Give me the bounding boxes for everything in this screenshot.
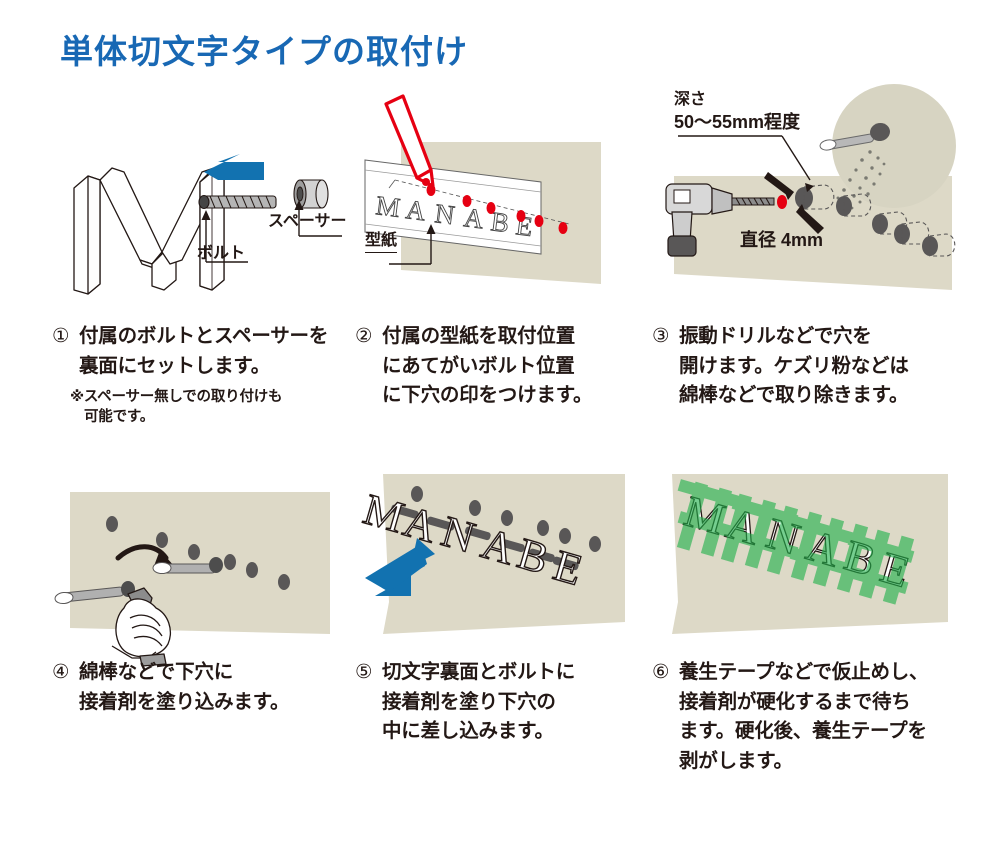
step-2-line-3: に下穴の印をつけます。 [382, 384, 592, 406]
step-6-line-2: 接着剤が硬化するまで待ち [679, 691, 911, 713]
bolt-part [199, 196, 276, 209]
step-1-number: ① [52, 322, 69, 352]
step-6-line-3: ます。硬化後、養生テープを [679, 720, 927, 742]
step-3-caption: ③ 振動ドリルなどで穴を 開けます。ケズリ粉などは 綿棒などで取り除きます。 [652, 322, 952, 411]
step-6-number: ⑥ [652, 658, 669, 688]
step-5-caption: ⑤ 切文字裏面とボルトに 接着剤を塗り下穴の 中に差し込みます。 [355, 658, 655, 747]
instruction-sheet: 単体切文字タイプの取付け [0, 0, 1000, 866]
masking-tape-illustration: M A N A B E [652, 462, 952, 652]
svg-text:M: M [374, 190, 401, 223]
step-1-note-line-2: 可能です。 [84, 408, 154, 428]
step-4-line-1: 綿棒などで下穴に [79, 661, 233, 683]
letter-m-3d [74, 168, 224, 294]
spacer-label: スペーサー [268, 212, 347, 232]
blue-arrow-left [204, 154, 264, 180]
step-6-caption: ⑥ 養生テープなどで仮止めし、 接着剤が硬化するまで待ち ます。硬化後、養生テー… [652, 658, 952, 777]
step-5-line-2: 接着剤を塗り下穴の [382, 691, 556, 713]
template-marking-illustration: M A N A B E [355, 84, 655, 306]
step-panel-3: 深さ 50〜55mm程度 直径 4mm ③ 振動ドリルなどで穴を 開けます。ケズ… [652, 84, 952, 395]
red-hole-mark [777, 195, 787, 209]
step-2-number: ② [355, 322, 372, 352]
step-panel-1: ボルト スペーサー ① 付属のボルトとスペーサーを 裏面にセットします。 ※スペ… [52, 84, 352, 411]
svg-text:N: N [433, 198, 456, 230]
step-1-note-line-1: ※スペーサー無しでの取り付けも [70, 389, 282, 405]
step-4-number: ④ [52, 658, 69, 688]
insert-letters-illustration: M A N A B E [355, 462, 655, 652]
step-4-line-2: 接着剤を塗り込みます。 [79, 691, 289, 713]
step-3-line-3: 綿棒などで取り除きます。 [679, 384, 908, 406]
step-1-line-1: 付属のボルトとスペーサーを [79, 325, 328, 347]
step-5-number: ⑤ [355, 658, 372, 688]
wall-surface [70, 492, 330, 634]
step-2-line-2: にあてがいボルト位置 [382, 355, 575, 377]
step-5-line-3: 中に差し込みます。 [382, 720, 554, 742]
letter-bolt-spacer-illustration: ボルト スペーサー [52, 84, 352, 306]
depth-leader-line [678, 136, 810, 180]
step-1-caption: ① 付属のボルトとスペーサーを 裏面にセットします。 ※スペーサー無しでの取り付… [52, 322, 352, 427]
step-2-line-1: 付属の型紙を取付位置 [382, 325, 575, 347]
depth-label-line-2: 50〜55mm程度 [674, 111, 800, 134]
drill-hole-illustration: 深さ 50〜55mm程度 直径 4mm [652, 84, 952, 306]
diameter-label: 直径 4mm [740, 229, 823, 252]
step-5-line-1: 切文字裏面とボルトに [382, 661, 575, 683]
template-label: 型紙 [365, 231, 397, 253]
step-panel-4: ④ 綿棒などで下穴に 接着剤を塗り込みます。 [52, 462, 352, 711]
step-6-line-4: 剥がします。 [679, 750, 793, 772]
step-panel-6: M A N A B E [652, 462, 952, 771]
step-6-line-1: 養生テープなどで仮止めし、 [679, 661, 928, 683]
step-1-line-2: 裏面にセットします。 [79, 355, 270, 377]
depth-label-line-1: 深さ [674, 90, 706, 110]
step-3-line-1: 振動ドリルなどで穴を [679, 325, 872, 347]
bolt-label: ボルト [197, 244, 245, 264]
step-panel-2: M A N A B E [355, 84, 655, 395]
step-3-number: ③ [652, 322, 669, 352]
step-4-caption: ④ 綿棒などで下穴に 接着剤を塗り込みます。 [52, 658, 352, 717]
step-2-caption: ② 付属の型紙を取付位置 にあてがいボルト位置 に下穴の印をつけます。 [355, 322, 655, 411]
step-panel-5: M A N A B E ⑤ 切文字裏面とボルトに 接着剤を塗り下穴の [355, 462, 655, 741]
adhesive-swab-illustration [52, 462, 352, 652]
step-3-line-2: 開けます。ケズリ粉などは [679, 355, 909, 377]
page-title: 単体切文字タイプの取付け [60, 32, 468, 72]
step-1-note: ※スペーサー無しでの取り付けも 可能です。 [52, 388, 352, 427]
